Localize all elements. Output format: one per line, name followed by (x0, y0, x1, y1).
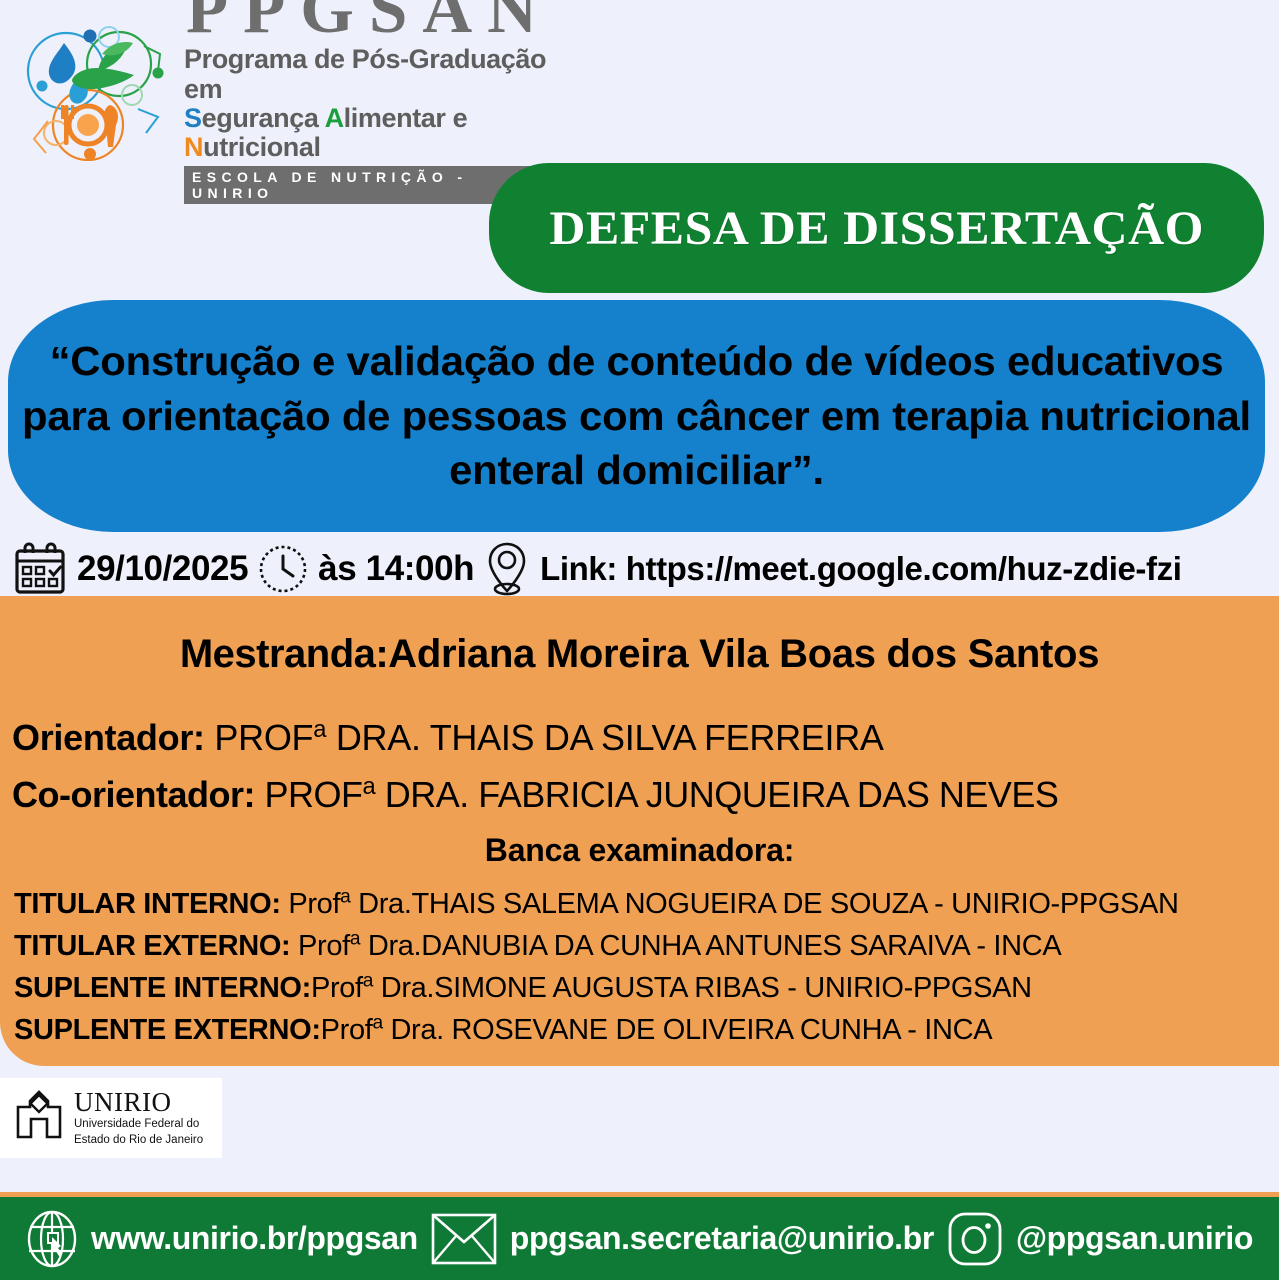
banca-row: SUPLENTE EXTERNO:Profa Dra. ROSEVANE DE … (14, 1009, 1269, 1051)
unirio-mark-icon (10, 1089, 68, 1147)
banca-name: Profa Dra.SIMONE AUGUSTA RIBAS - UNIRIO-… (311, 972, 1032, 1004)
mestranda-row: Mestranda:Adriana Moreira Vila Boas dos … (0, 632, 1279, 677)
unirio-sub-1: Universidade Federal do (74, 1118, 203, 1132)
dissertation-title-box: “Construção e validação de conteúdo de v… (8, 300, 1265, 532)
banca-role: SUPLENTE EXTERNO: (14, 1014, 321, 1046)
logo-acronym: PPGSAN (186, 0, 552, 42)
logo-graphic-icon (18, 21, 176, 161)
banca-name: Profa Dra.THAIS SALEMA NOGUEIRA DE SOUZA… (281, 888, 1179, 920)
ppgsan-logo-mark (18, 21, 176, 161)
banca-name: Profa Dra.DANUBIA DA CUNHA ANTUNES SARAI… (290, 930, 1061, 962)
coorientador-label: Co-orientador: (12, 774, 255, 815)
orientador-label: Orientador: (12, 717, 205, 758)
logo-program-line: Programa de Pós-Graduação em (184, 45, 552, 103)
instagram-icon (947, 1211, 1003, 1267)
logo-nutricional: utricional (203, 132, 321, 162)
logo-n: N (184, 132, 203, 162)
defense-type-banner: DEFESA DE DISSERTAÇÃO (489, 163, 1264, 293)
logo-seguranca: egurança (202, 103, 325, 133)
footer-email[interactable]: ppgsan.secretaria@unirio.br (510, 1220, 934, 1257)
defense-type-label: DEFESA DE DISSERTAÇÃO (549, 201, 1204, 256)
banca-role: SUPLENTE INTERNO: (14, 972, 311, 1004)
orientador-row: Orientador: PROFa DRA. THAIS DA SILVA FE… (12, 716, 1267, 759)
mestranda-name: Adriana Moreira Vila Boas dos Santos (388, 632, 1099, 676)
orientador-name: PROFa DRA. THAIS DA SILVA FERREIRA (214, 717, 883, 758)
event-date: 29/10/2025 (77, 549, 248, 589)
banca-row: TITULAR INTERNO: Profa Dra.THAIS SALEMA … (14, 883, 1269, 925)
footer-instagram[interactable]: @ppgsan.unirio (1016, 1220, 1253, 1257)
banca-list: TITULAR INTERNO: Profa Dra.THAIS SALEMA … (14, 883, 1269, 1051)
event-time: às 14:00h (318, 549, 474, 589)
dissertation-title: “Construção e validação de conteúdo de v… (10, 334, 1264, 498)
banca-title: Banca examinadora: (0, 832, 1279, 869)
location-pin-icon (483, 541, 531, 597)
ppgsan-logo: PPGSAN Programa de Pós-Graduação em Segu… (18, 18, 518, 163)
coorientador-row: Co-orientador: PROFa DRA. FABRICIA JUNQU… (12, 773, 1267, 816)
mestranda-label: Mestranda: (180, 632, 388, 676)
people-panel: Mestranda:Adriana Moreira Vila Boas dos … (0, 596, 1279, 1066)
logo-alimentar: limentar e (344, 103, 468, 133)
banca-row: TITULAR EXTERNO: Profa Dra.DANUBIA DA CU… (14, 925, 1269, 967)
banca-name: Profa Dra. ROSEVANE DE OLIVEIRA CUNHA - … (321, 1014, 993, 1046)
logo-s: S (184, 103, 202, 133)
banca-row: SUPLENTE INTERNO:Profa Dra.SIMONE AUGUST… (14, 967, 1269, 1009)
event-info-row: 29/10/2025 às 14:00h Link: https://meet.… (12, 540, 1272, 598)
logo-area-line: Segurança Alimentar e Nutricional (184, 104, 552, 162)
event-link[interactable]: Link: https://meet.google.com/huz-zdie-f… (540, 550, 1181, 588)
banca-role: TITULAR EXTERNO: (14, 930, 290, 962)
unirio-name: UNIRIO (74, 1089, 203, 1116)
globe-icon (26, 1209, 78, 1269)
sponsor-logos: UNIRIO Universidade Federal do Estado do… (0, 1078, 1279, 1186)
footer-website[interactable]: www.unirio.br/ppgsan (91, 1220, 418, 1257)
poster-root: PPGSAN Programa de Pós-Graduação em Segu… (0, 0, 1279, 1280)
envelope-icon (431, 1212, 497, 1266)
coorientador-name: PROFa DRA. FABRICIA JUNQUEIRA DAS NEVES (265, 774, 1059, 815)
unirio-sub-2: Estado do Rio de Janeiro (74, 1134, 203, 1148)
contact-footer: www.unirio.br/ppgsan ppgsan.secretaria@u… (0, 1197, 1279, 1280)
calendar-icon (12, 542, 68, 596)
clock-icon (257, 543, 309, 595)
unirio-logo: UNIRIO Universidade Federal do Estado do… (0, 1078, 222, 1158)
logo-a: A (325, 103, 344, 133)
banca-role: TITULAR INTERNO: (14, 888, 281, 920)
ppgsan-logo-text: PPGSAN Programa de Pós-Graduação em Segu… (184, 0, 552, 204)
